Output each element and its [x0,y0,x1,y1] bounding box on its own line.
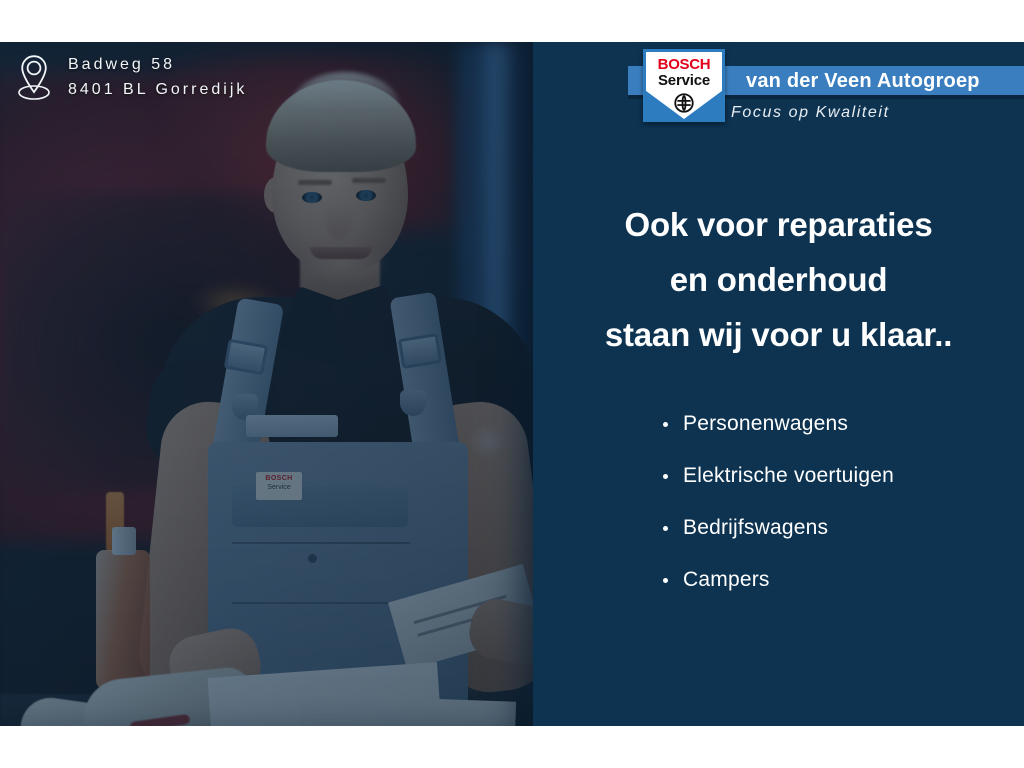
location-pin-icon [14,53,54,101]
photo-edge-vignette [0,42,533,726]
services-list: Personenwagens Elektrische voertuigen Be… [661,410,1024,594]
service-label: Campers [683,568,770,591]
address-line-2: 8401 BL Gorredijk [68,77,247,102]
service-label: Personenwagens [683,412,848,435]
bosch-armature-icon [674,93,694,113]
service-label: Bedrijfswagens [683,516,828,539]
company-name: van der Veen Autogroep [746,67,1024,95]
promo-banner: BOSCH Service Badweg 58 [0,42,1024,726]
headline: Ook voor reparaties en onderhoud staan w… [533,197,1024,362]
address-block: Badweg 58 8401 BL Gorredijk [14,52,247,102]
bullet-dot-icon [663,526,668,531]
bullet-dot-icon [663,422,668,427]
service-label: Elektrische voertuigen [683,464,894,487]
bullet-dot-icon [663,578,668,583]
bosch-service-logo[interactable]: BOSCH Service [643,49,725,122]
list-item: Campers [661,566,1024,594]
list-item: Personenwagens [661,410,1024,438]
headline-line-1: Ook voor reparaties [533,197,1024,252]
address-line-1: Badweg 58 [68,52,247,77]
headline-line-3: staan wij voor u klaar.. [533,307,1024,362]
company-tagline: Focus op Kwaliteit [731,104,890,122]
bosch-service-word: Service [646,73,722,89]
message-panel: BOSCH Service van der Veen Autogroep Foc… [533,42,1024,726]
address-text: Badweg 58 8401 BL Gorredijk [68,52,247,102]
headline-line-2: en onderhoud [533,252,1024,307]
bullet-dot-icon [663,474,668,479]
bosch-wordmark: BOSCH [646,57,722,73]
workshop-photo: BOSCH Service Badweg 58 [0,42,533,726]
list-item: Elektrische voertuigen [661,462,1024,490]
list-item: Bedrijfswagens [661,514,1024,542]
